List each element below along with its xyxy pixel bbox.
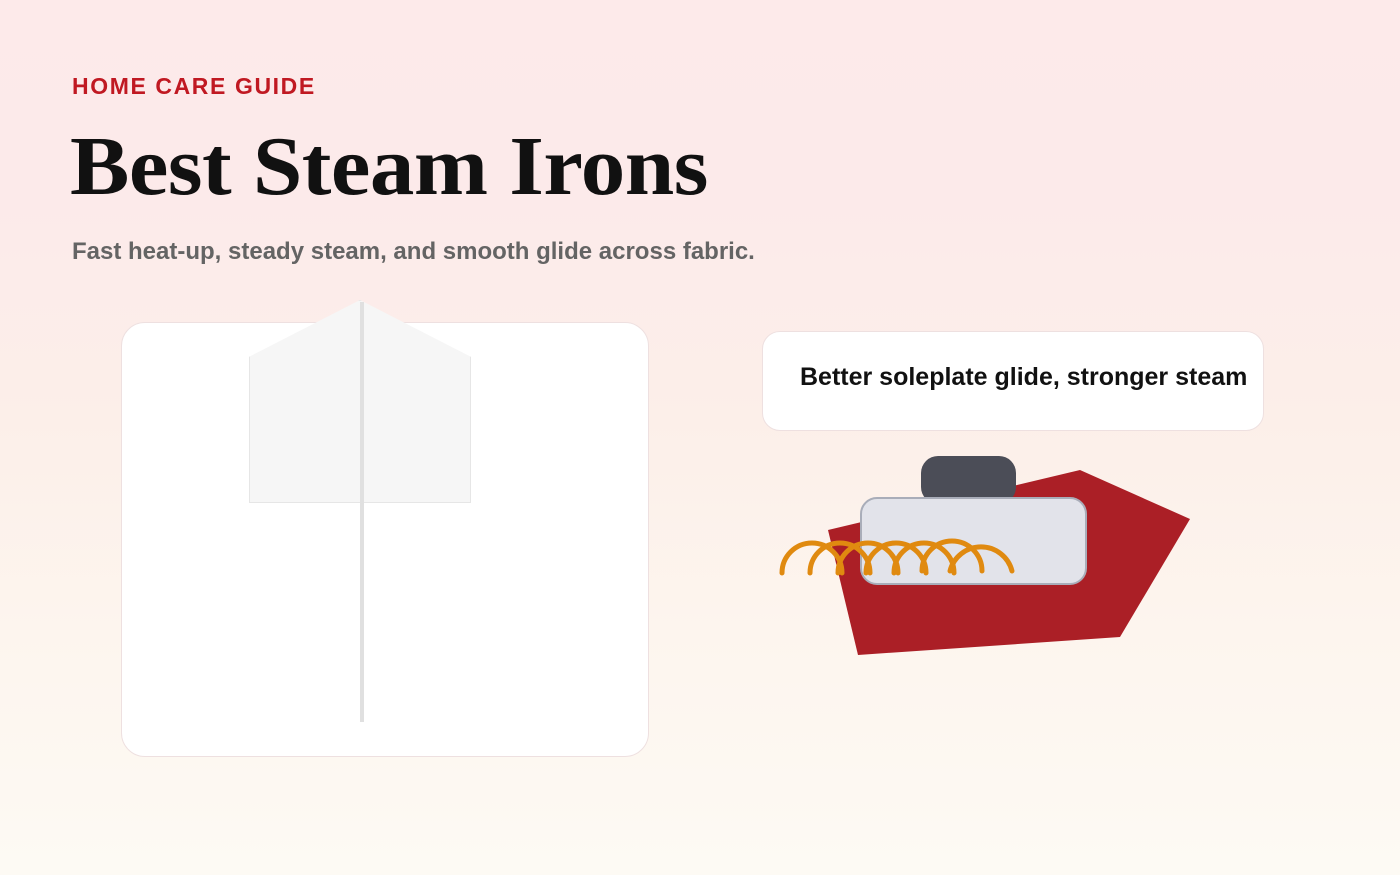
iron-handle-shape [921,456,1016,504]
eyebrow-label: HOME CARE GUIDE [72,72,316,100]
media-card [121,322,649,757]
callout-text: Better soleplate glide, stronger steam [800,362,1247,392]
page-title: Best Steam Irons [70,118,708,216]
page-root: HOME CARE GUIDE Best Steam Irons Fast he… [0,0,1400,875]
page-subtitle: Fast heat-up, steady steam, and smooth g… [72,236,755,268]
steam-iron-illustration [760,440,1220,680]
